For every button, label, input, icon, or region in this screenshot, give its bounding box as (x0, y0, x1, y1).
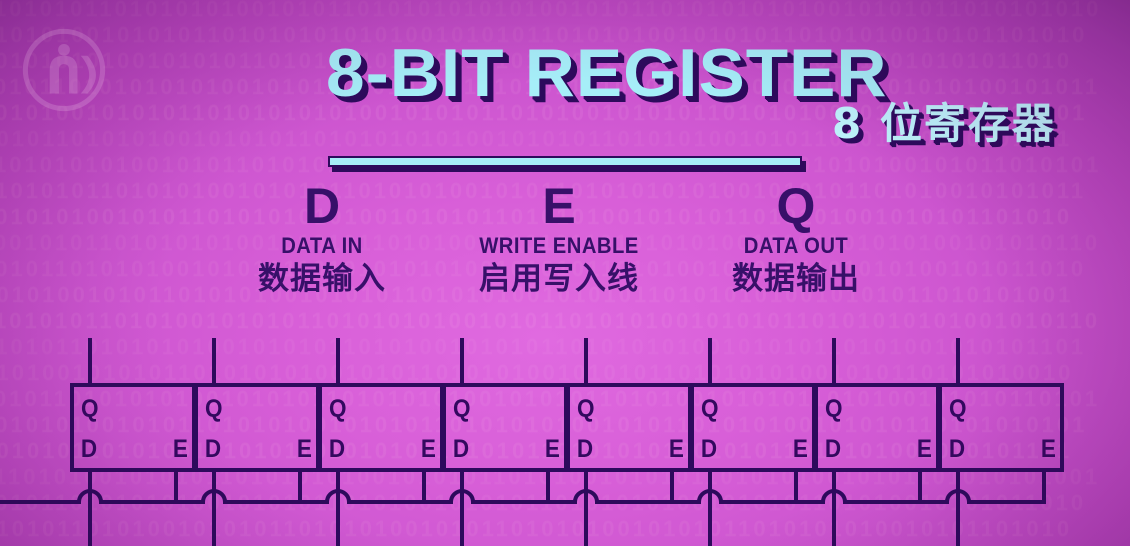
ff-7-pin-q: Q (825, 397, 843, 422)
register-diagram-canvas: 1010101101010101001010110101010101010010… (0, 0, 1130, 546)
ff-1-pin-q: Q (81, 397, 99, 422)
ff-8-pin-q: Q (949, 397, 967, 422)
ff-8-pin-d: D (949, 437, 965, 462)
ff-2-pin-e: E (297, 437, 312, 462)
ff-6-pin-e: E (793, 437, 808, 462)
ff-8-pin-e: E (1041, 437, 1056, 462)
ff-3-pin-e: E (421, 437, 436, 462)
register-circuit (0, 0, 1130, 546)
ff-6-pin-d: D (701, 437, 717, 462)
ff-2-pin-d: D (205, 437, 221, 462)
ff-5-pin-q: Q (577, 397, 595, 422)
ff-5-pin-e: E (669, 437, 684, 462)
ff-3-pin-d: D (329, 437, 345, 462)
ff-3-pin-q: Q (329, 397, 347, 422)
ff-7-pin-e: E (917, 437, 932, 462)
ff-1-pin-e: E (173, 437, 188, 462)
ff-4-pin-e: E (545, 437, 560, 462)
ff-4-pin-q: Q (453, 397, 471, 422)
ff-4-pin-d: D (453, 437, 469, 462)
ff-5-pin-d: D (577, 437, 593, 462)
ff-7-pin-d: D (825, 437, 841, 462)
ff-2-pin-q: Q (205, 397, 223, 422)
ff-6-pin-q: Q (701, 397, 719, 422)
ff-1-pin-d: D (81, 437, 97, 462)
write-enable-bus (0, 491, 1044, 502)
